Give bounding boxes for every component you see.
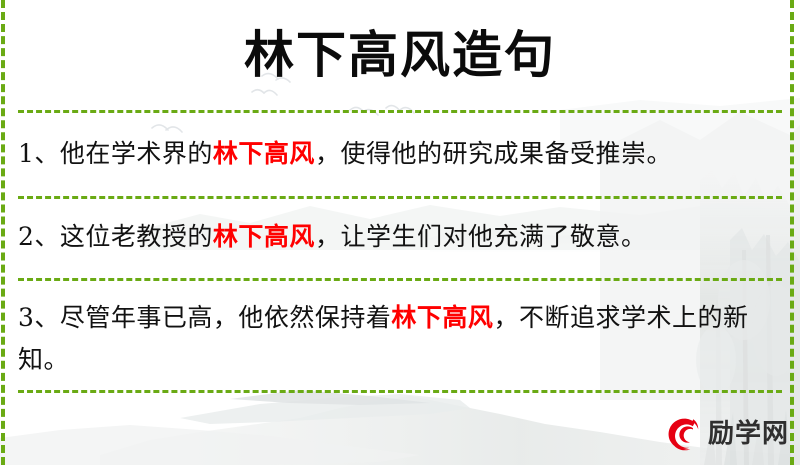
sentence-3-part-prefix: 3、尽管年事已高，他依然保持着 xyxy=(18,303,391,332)
sentence-1-part-prefix: 1、他在学术界的 xyxy=(18,139,213,168)
sentence-1-idiom-highlight: 林下高风 xyxy=(213,139,315,168)
site-logo-text: 励学网 xyxy=(708,421,789,447)
flame-swirl-logo-icon xyxy=(663,414,703,454)
example-sentence-3: 3、尽管年事已高，他依然保持着林下高风，不断追求学术上的新知。 xyxy=(18,297,784,381)
separator-line-3 xyxy=(18,278,782,281)
example-sentence-2: 2、这位老教授的林下高风，让学生们对他充满了敬意。 xyxy=(18,216,778,258)
site-logo[interactable]: 励学网 xyxy=(663,414,789,454)
separator-line-2 xyxy=(18,196,782,199)
sentence-2-part-prefix: 2、这位老教授的 xyxy=(18,222,213,251)
separator-line-4 xyxy=(18,390,782,393)
frame-border-right xyxy=(790,0,794,465)
sentence-3-idiom-highlight: 林下高风 xyxy=(391,303,493,332)
page-root: 林下高风造句 1、他在学术界的林下高风，使得他的研究成果备受推崇。 2、这位老教… xyxy=(0,0,800,465)
example-sentence-1: 1、他在学术界的林下高风，使得他的研究成果备受推崇。 xyxy=(18,133,778,175)
sentence-2-idiom-highlight: 林下高风 xyxy=(213,222,315,251)
page-title: 林下高风造句 xyxy=(0,24,800,86)
sentence-1-part-suffix: ，使得他的研究成果备受推崇。 xyxy=(315,139,672,168)
separator-line-1 xyxy=(18,110,782,113)
sentence-2-part-suffix: ，让学生们对他充满了敬意。 xyxy=(315,222,647,251)
frame-border-left xyxy=(1,0,5,465)
